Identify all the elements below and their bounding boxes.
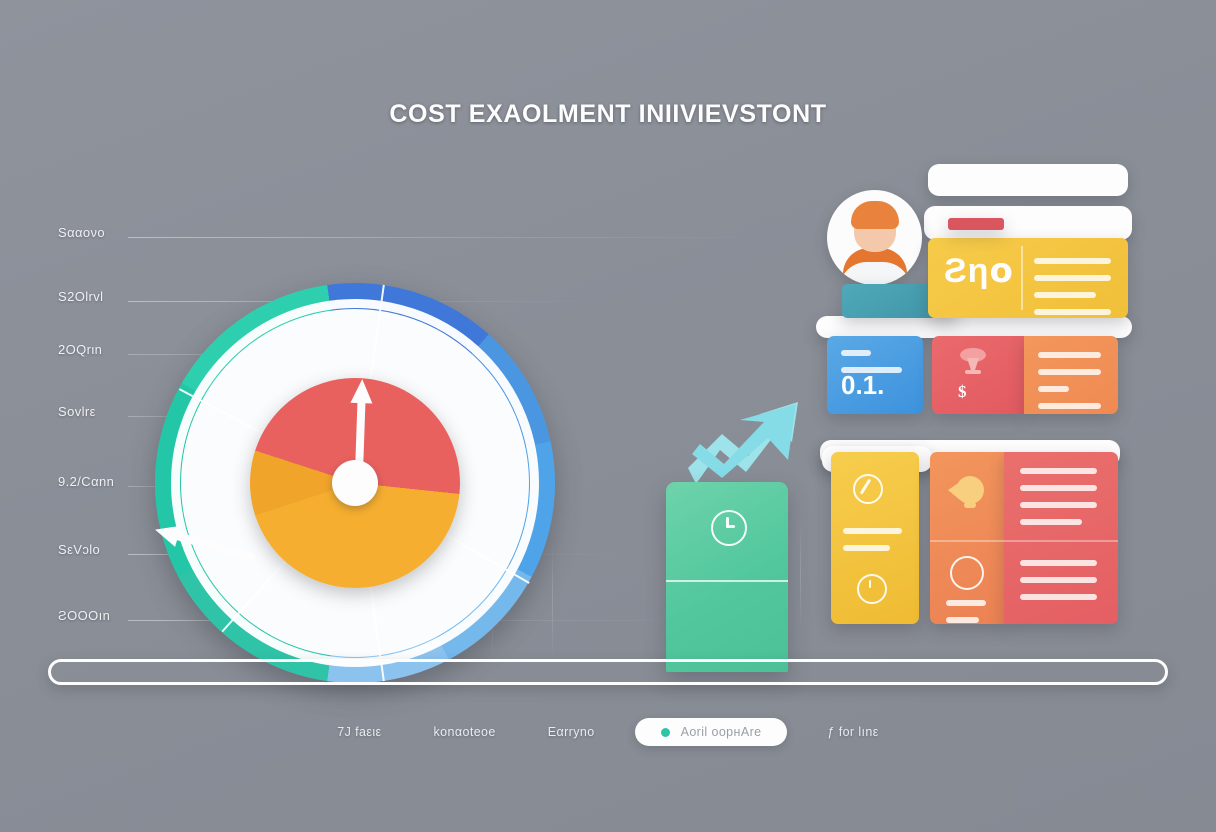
text-line: [1038, 403, 1101, 409]
legend-item[interactable]: ƒ for lınε: [815, 718, 890, 746]
card-red-accent-strip: [948, 218, 1004, 230]
legend: 7J faειε konαoteοe Eαrrynο Aoril oopнAre…: [0, 718, 1216, 746]
clock-icon: [711, 510, 747, 546]
legend-item[interactable]: 7J faειε: [325, 718, 393, 746]
legend-item-label: Aoril oopнAre: [681, 725, 762, 739]
text-lines: [1020, 468, 1104, 536]
lightbulb-icon: [944, 474, 988, 514]
card-value-170: Ƨηօ: [944, 254, 1012, 288]
legend-item[interactable]: Eαrrynο: [536, 718, 607, 746]
card-red-bottom[interactable]: [1004, 452, 1118, 624]
card-divider: [1021, 246, 1023, 310]
text-line: [1034, 292, 1096, 298]
text-line: [1034, 258, 1111, 264]
legend-item-active[interactable]: Aoril oopнAre: [635, 718, 788, 746]
gauge-chart[interactable]: [155, 283, 555, 683]
card-value-dollar: $: [958, 382, 967, 402]
text-lines: [1034, 258, 1118, 326]
page-title: COST EXAOLMENT INIIVIEVSTONT: [0, 100, 1216, 129]
text-line: [1038, 352, 1101, 358]
y-tick-label: Sααoνo: [58, 225, 105, 240]
circle-slash-icon: [853, 474, 883, 504]
bottom-rail: [48, 659, 1168, 685]
text-lines: [843, 528, 907, 562]
text-line: [1034, 309, 1111, 315]
gridline: [128, 237, 768, 238]
card-blue-metric[interactable]: 0.1.: [827, 336, 923, 414]
card-value-01: 0.1.: [841, 372, 884, 398]
text-line: [946, 617, 979, 623]
y-tick-label: ƧOOOın: [58, 608, 110, 623]
infographic-canvas: COST EXAOLMENT INIIVIEVSTONT Sααoνo S2Ol…: [0, 0, 1216, 832]
text-line: [1020, 519, 1082, 525]
card-orange-bulb[interactable]: [930, 452, 1004, 624]
y-tick-label: 9.2/Cαnn: [58, 474, 114, 489]
y-tick-label: SεVɔlo: [58, 542, 100, 557]
text-line: [1020, 577, 1097, 583]
trophy-icon: [956, 348, 990, 378]
vertical-gridline: [800, 520, 801, 630]
y-tick-label: 2OQrιn: [58, 342, 102, 357]
text-line: [1020, 485, 1097, 491]
text-line: [1020, 502, 1097, 508]
circle-icon: [950, 556, 984, 590]
text-line: [1034, 275, 1111, 281]
card-yellow-top[interactable]: Ƨηօ: [928, 238, 1128, 318]
needle-head-icon: [350, 379, 373, 404]
bar-divider: [666, 580, 788, 582]
text-line: [1020, 560, 1097, 566]
text-lines: [946, 600, 990, 634]
avatar[interactable]: [827, 190, 922, 285]
clock-icon: [857, 574, 887, 604]
text-line: [1020, 468, 1097, 474]
card-row-divider: [930, 540, 1118, 542]
card-yellow-bottom[interactable]: [831, 452, 919, 624]
text-line: [841, 350, 871, 356]
text-line: [946, 600, 986, 606]
avatar-hair: [851, 201, 899, 229]
text-line: [843, 528, 902, 534]
text-lines: [1038, 352, 1106, 420]
text-line: [843, 545, 890, 551]
text-line: [1020, 594, 1097, 600]
legend-item[interactable]: konαoteοe: [421, 718, 507, 746]
card-red-trophy[interactable]: $: [932, 336, 1024, 414]
text-line: [1038, 386, 1069, 392]
green-value-bar[interactable]: [666, 482, 788, 672]
y-tick-label: S2Olrvl: [58, 289, 103, 304]
card-orange-lines[interactable]: [1024, 336, 1118, 414]
legend-dot-icon: [661, 728, 670, 737]
text-lines: [1020, 560, 1104, 611]
shelf-top: [928, 164, 1128, 196]
gauge-hub: [332, 460, 378, 506]
y-tick-label: Sovlrε: [58, 404, 96, 419]
text-line: [1038, 369, 1101, 375]
